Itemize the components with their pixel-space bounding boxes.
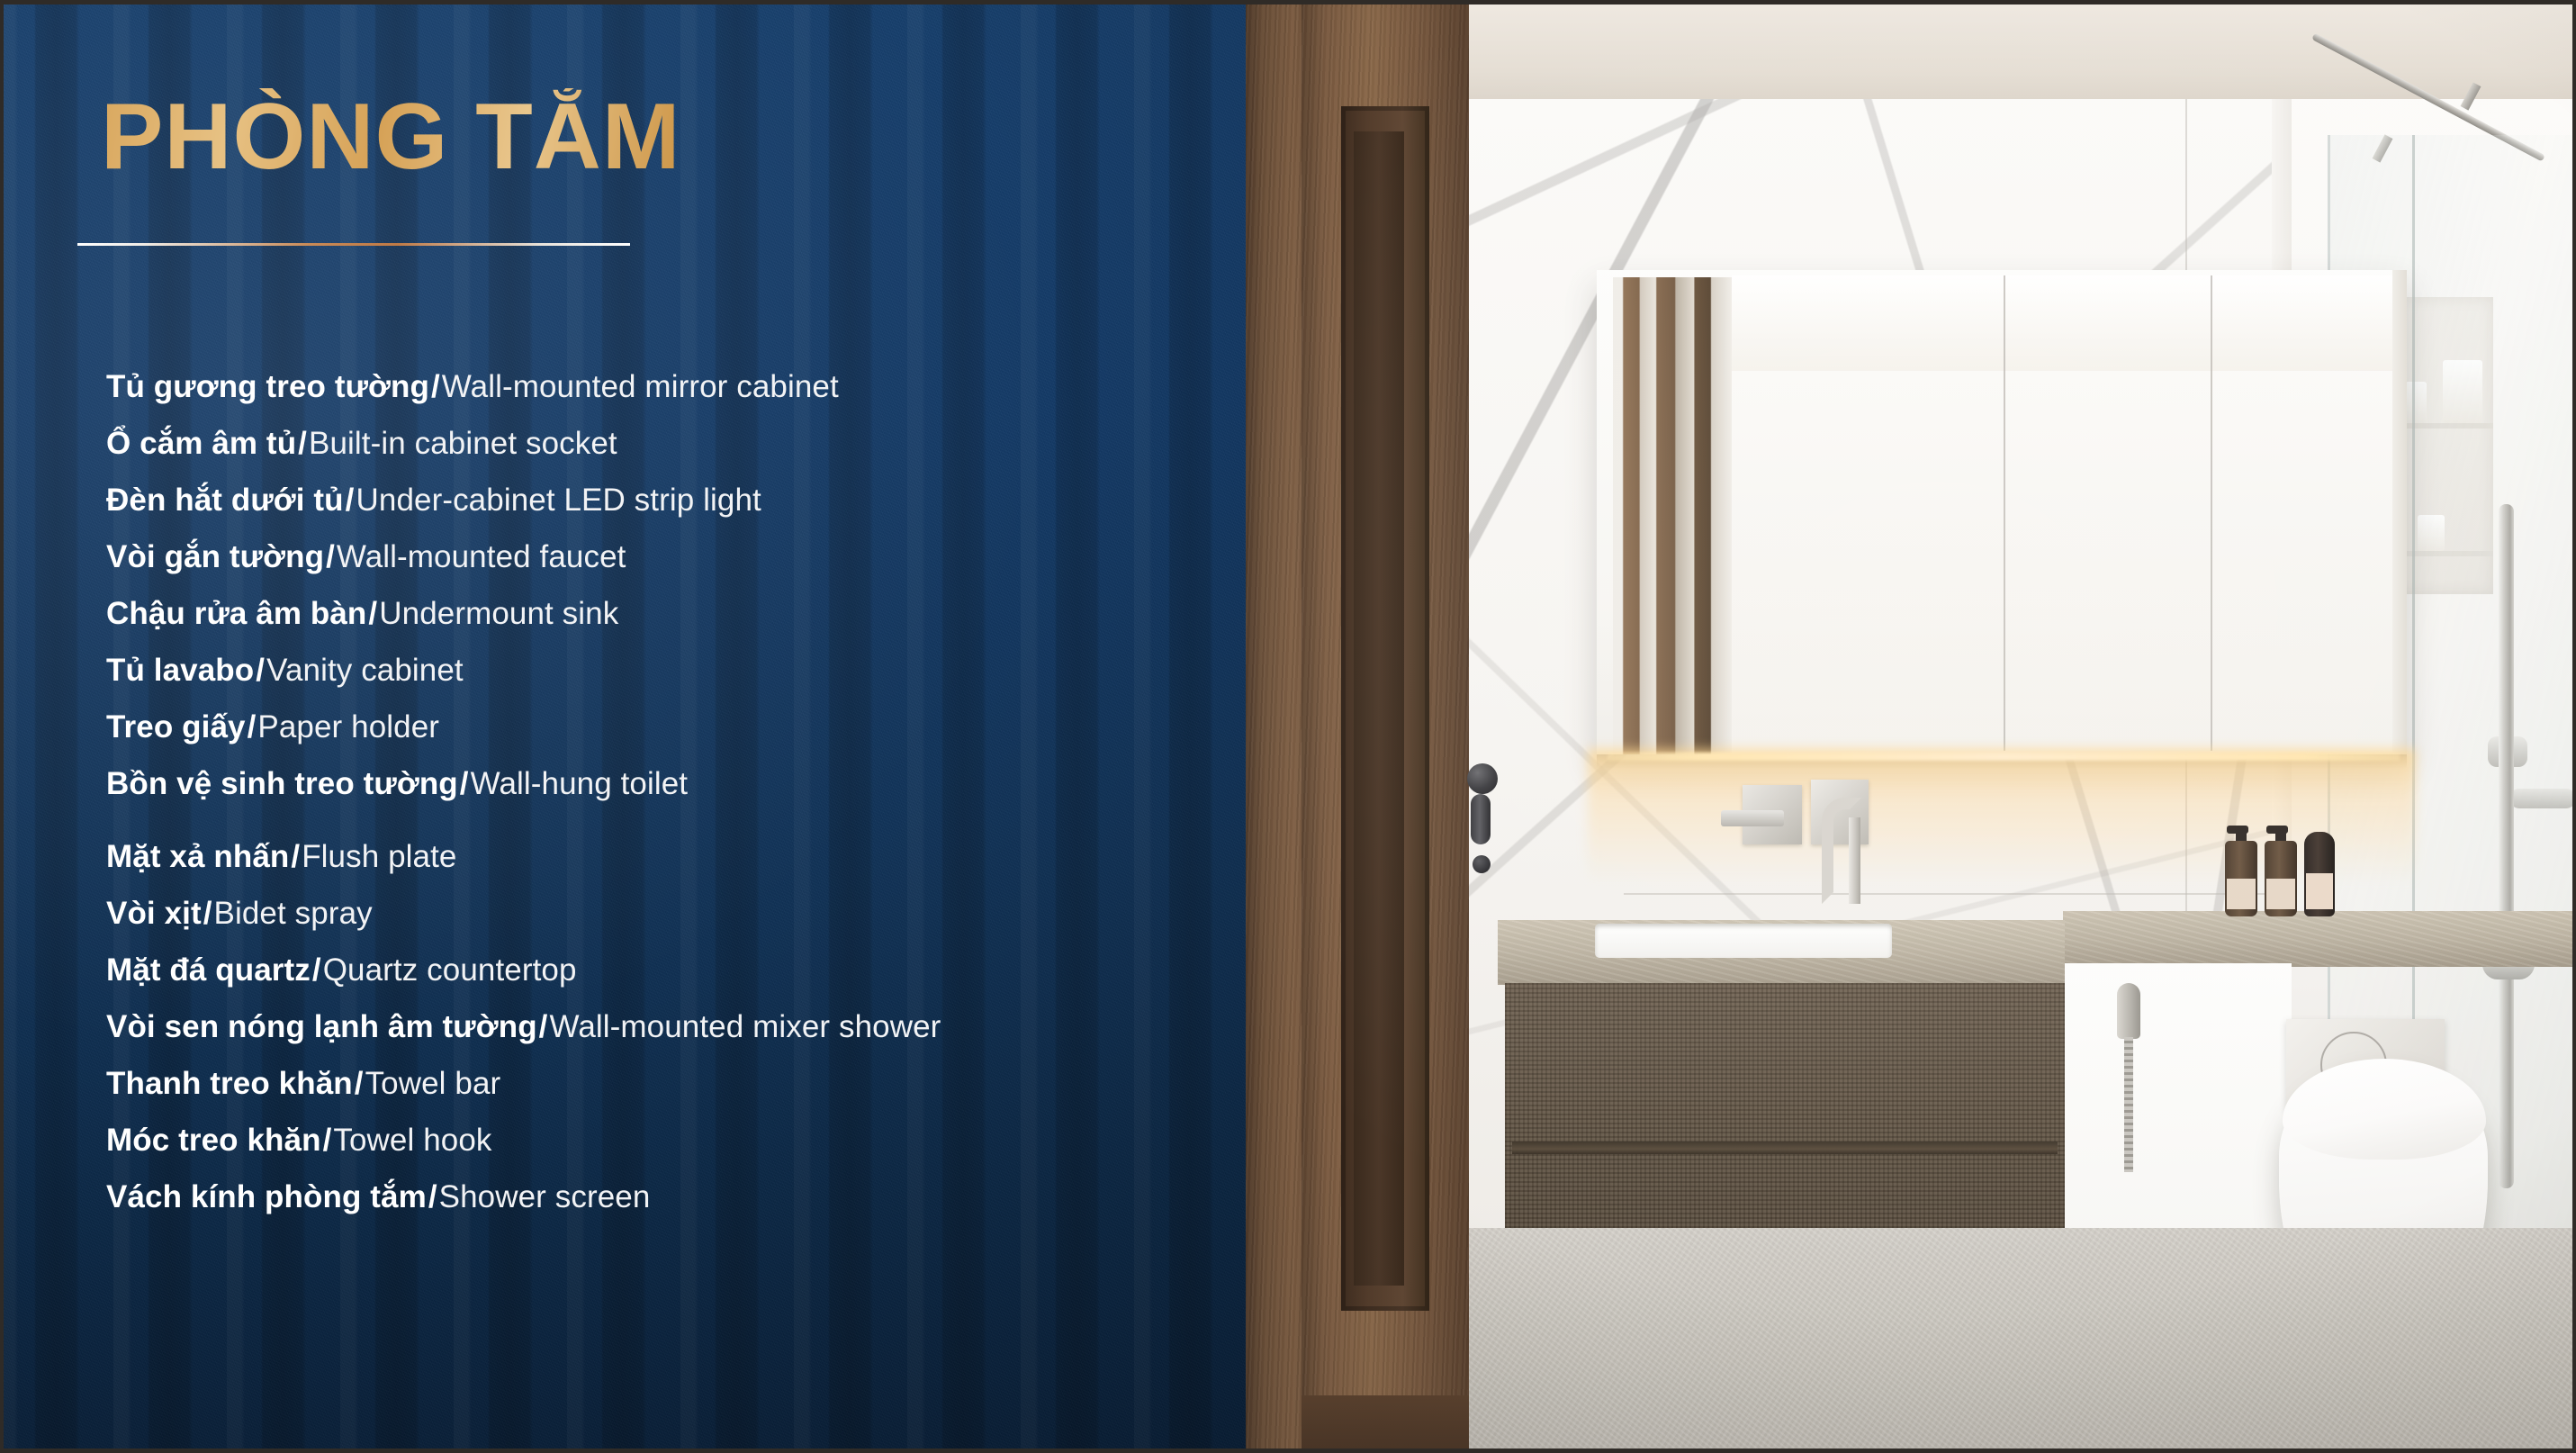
left-info-panel: PHÒNG TẮM Tủ gương treo tường/Wall-mount…	[0, 0, 1246, 1453]
faucet-spout-stem	[1849, 817, 1860, 904]
bottle-label	[2306, 873, 2333, 909]
title-divider	[77, 243, 630, 246]
spec-en-label: Under-cabinet LED strip light	[356, 483, 761, 518]
spec-separator: /	[246, 709, 258, 745]
mirror-reflection-door	[1613, 277, 1732, 754]
bidet-spray-hose	[2124, 1037, 2133, 1172]
list-item: Vách kính phòng tắm/Shower screen	[106, 1169, 1222, 1225]
spec-separator: /	[254, 653, 266, 688]
list-item: Treo giấy/Paper holder	[106, 699, 1222, 755]
spec-separator: /	[289, 839, 302, 874]
spec-vi-label: Vách kính phòng tắm	[106, 1179, 427, 1214]
spec-en-label: Built-in cabinet socket	[309, 426, 617, 461]
spec-en-label: Wall-mounted mirror cabinet	[442, 369, 839, 404]
spec-vi-label: Tủ gương treo tường	[106, 369, 429, 404]
spec-separator: /	[537, 1009, 550, 1044]
list-item: Mặt xả nhấn/Flush plate	[106, 828, 1222, 885]
wooden-door	[1246, 0, 1516, 1453]
spec-vi-label: Vòi sen nóng lạnh âm tường	[106, 1009, 537, 1044]
list-item: Tủ gương treo tường/Wall-mounted mirror …	[106, 358, 1222, 415]
spec-en-label: Shower screen	[439, 1179, 651, 1214]
mirror-reflection-ceiling	[1732, 275, 2400, 375]
spec-separator: /	[429, 369, 442, 404]
spec-vi-label: Vòi xịt	[106, 896, 202, 931]
door-lock-icon	[1473, 855, 1491, 873]
list-item: Móc treo khăn/Towel hook	[106, 1112, 1222, 1169]
spec-vi-label: Tủ lavabo	[106, 653, 254, 688]
spec-vi-label: Đèn hắt dưới tủ	[106, 483, 344, 518]
countertop-texture	[2063, 911, 2576, 967]
cabinet-right-edge	[2392, 270, 2407, 754]
spec-en-label: Bidet spray	[214, 896, 373, 931]
spec-vi-label: Móc treo khăn	[106, 1123, 321, 1158]
led-strip-light	[1608, 753, 2400, 761]
list-item: Vòi xịt/Bidet spray	[106, 885, 1222, 942]
vanity-drawer-groove	[1512, 1142, 2058, 1154]
quartz-countertop-right	[2063, 911, 2576, 967]
spec-vi-label: Treo giấy	[106, 709, 246, 745]
specification-list: Tủ gương treo tường/Wall-mounted mirror …	[106, 358, 1222, 1225]
faucet-lever-handle	[1721, 810, 1784, 826]
list-item: Ổ cắm âm tủ/Built-in cabinet socket	[106, 415, 1222, 472]
spec-vi-label: Ổ cắm âm tủ	[106, 426, 296, 461]
bottle-pump	[2227, 826, 2248, 834]
spec-en-label: Wall-mounted faucet	[337, 539, 626, 574]
spec-separator: /	[311, 952, 323, 988]
spec-en-label: Flush plate	[302, 839, 456, 874]
spec-separator: /	[353, 1066, 365, 1101]
spec-separator: /	[296, 426, 309, 461]
soap-bottle	[2304, 821, 2335, 916]
spec-en-label: Vanity cabinet	[266, 653, 464, 688]
undermount-sink	[1595, 924, 1892, 958]
bottle-pump	[2266, 826, 2288, 834]
frame-bottom-border	[0, 1448, 2576, 1453]
spec-separator: /	[202, 896, 214, 931]
cabinet-door-seam	[2211, 275, 2212, 751]
spec-separator: /	[321, 1123, 334, 1158]
frame-top-border	[0, 0, 2576, 5]
bidet-spray-head	[2117, 983, 2140, 1039]
door-handle-lever	[1471, 794, 1491, 844]
cabinet-door-seam	[2004, 275, 2005, 751]
wall-tile-seam	[1624, 893, 2275, 895]
spec-vi-label: Vòi gắn tường	[106, 539, 324, 574]
spec-en-label: Towel hook	[333, 1123, 491, 1158]
list-item: Mặt đá quartz/Quartz countertop	[106, 942, 1222, 998]
door-handle-rosette	[1467, 763, 1498, 794]
spec-separator: /	[366, 596, 379, 631]
soap-bottle	[2225, 826, 2257, 916]
mirror-reflection-marble	[1732, 371, 2400, 753]
spec-separator: /	[324, 539, 337, 574]
spec-vi-label: Mặt đá quartz	[106, 952, 311, 988]
slide-root: PHÒNG TẮM Tủ gương treo tường/Wall-mount…	[0, 0, 2576, 1453]
spec-vi-label: Bồn vệ sinh treo tường	[106, 766, 458, 801]
list-item: Vòi gắn tường/Wall-mounted faucet	[106, 528, 1222, 585]
spec-vi-label: Chậu rửa âm bàn	[106, 596, 366, 631]
spec-separator: /	[458, 766, 471, 801]
door-leaf	[1302, 0, 1469, 1404]
list-item: Chậu rửa âm bàn/Undermount sink	[106, 585, 1222, 642]
spec-vi-label: Thanh treo khăn	[106, 1066, 353, 1101]
list-item: Đèn hắt dưới tủ/Under-cabinet LED strip …	[106, 472, 1222, 528]
spec-en-label: Quartz countertop	[323, 952, 577, 988]
list-item: Thanh treo khăn/Towel bar	[106, 1055, 1222, 1112]
soap-bottle	[2265, 826, 2297, 916]
door-inset-panel-inner	[1354, 131, 1404, 1286]
bottle-label	[2227, 879, 2256, 909]
door-bottom-rail	[1302, 1395, 1469, 1453]
page-title: PHÒNG TẮM	[101, 88, 681, 186]
list-item: Vòi sen nóng lạnh âm tường/Wall-mounted …	[106, 998, 1222, 1055]
bottle-label	[2266, 879, 2295, 909]
list-item: Bồn vệ sinh treo tường/Wall-hung toilet	[106, 755, 1222, 812]
spec-separator: /	[427, 1179, 439, 1214]
spec-separator: /	[344, 483, 356, 518]
list-item: Tủ lavabo/Vanity cabinet	[106, 642, 1222, 699]
spec-en-label: Paper holder	[257, 709, 439, 745]
spec-vi-label: Mặt xả nhấn	[106, 839, 289, 874]
spec-en-label: Wall-hung toilet	[471, 766, 689, 801]
frame-left-border	[0, 0, 4, 1453]
frame-right-border	[2572, 0, 2576, 1453]
panel-content: PHÒNG TẮM Tủ gương treo tường/Wall-mount…	[0, 0, 1246, 1453]
bathroom-photo	[1246, 0, 2576, 1453]
spec-en-label: Undermount sink	[379, 596, 618, 631]
spec-en-label: Towel bar	[365, 1066, 501, 1101]
mirror-cabinet	[1597, 270, 2407, 754]
spec-en-label: Wall-mounted mixer shower	[550, 1009, 941, 1044]
